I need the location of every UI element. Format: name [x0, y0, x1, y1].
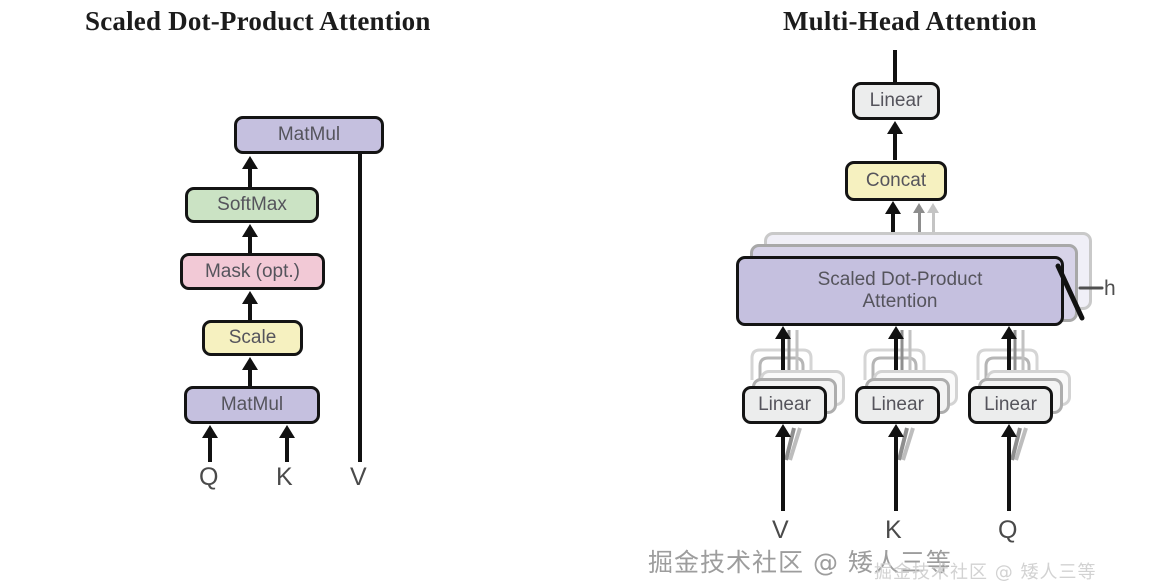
v-input-line — [781, 436, 785, 511]
right-input-label-k: K — [885, 516, 902, 545]
k-input-arrowhead — [888, 424, 904, 437]
right-input-label-q: Q — [998, 516, 1017, 545]
input-fanout-connectors — [0, 0, 1156, 588]
figure-canvas: Scaled Dot-Product Attention Multi-Head … — [0, 0, 1156, 588]
k-input-line — [894, 436, 898, 511]
right-input-label-v: V — [772, 516, 789, 545]
q-input-arrowhead — [1001, 424, 1017, 437]
q-input-line — [1007, 436, 1011, 511]
v-input-arrowhead — [775, 424, 791, 437]
